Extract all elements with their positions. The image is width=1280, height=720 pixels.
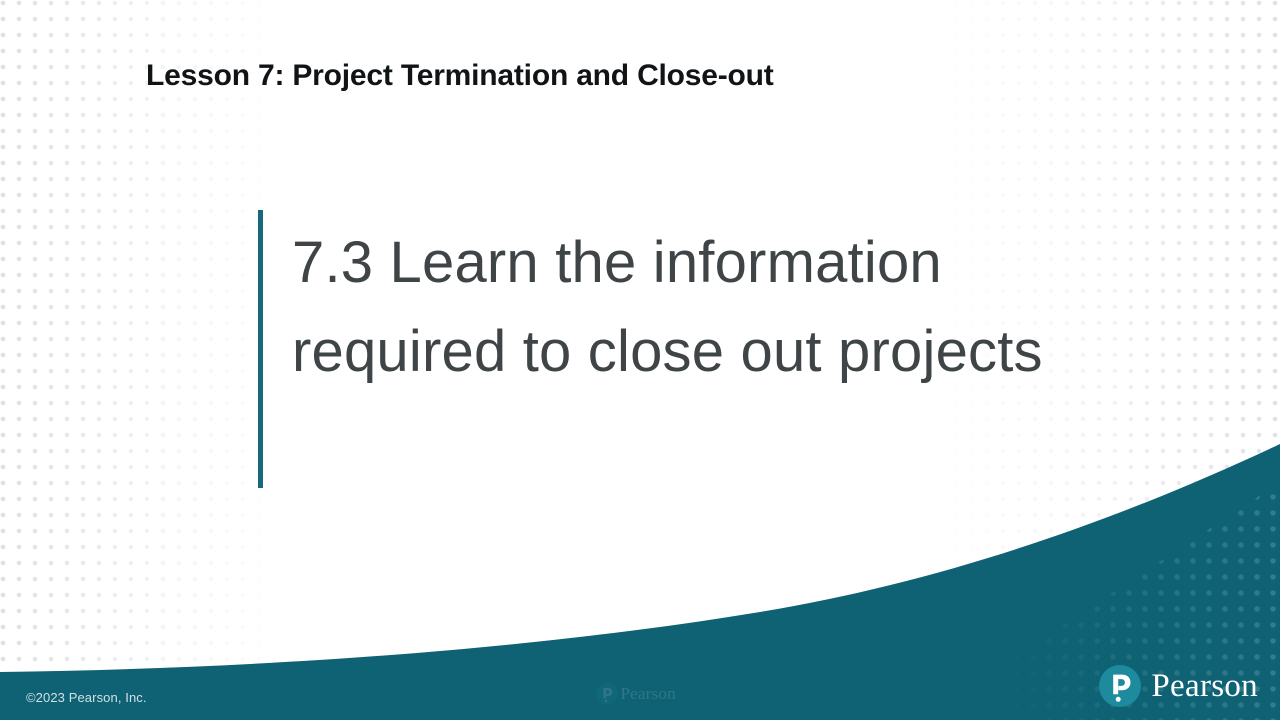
pearson-watermark: Pearson <box>596 683 676 705</box>
pearson-wordmark: Pearson <box>1151 670 1258 703</box>
slide-canvas: Lesson 7: Project Termination and Close-… <box>0 0 1280 720</box>
dot-pattern-left <box>0 0 300 720</box>
pearson-p-interrobang-icon <box>1099 665 1141 707</box>
pearson-logo: Pearson <box>1099 665 1258 707</box>
slide-title: Lesson 7: Project Termination and Close-… <box>146 56 1146 96</box>
copyright-text: ©2023 Pearson, Inc. <box>26 690 147 705</box>
accent-bar <box>258 210 263 488</box>
slide-body-text: 7.3 Learn the information required to cl… <box>292 218 1102 396</box>
pearson-watermark-wordmark: Pearson <box>620 685 675 702</box>
pearson-p-interrobang-icon <box>596 683 618 705</box>
